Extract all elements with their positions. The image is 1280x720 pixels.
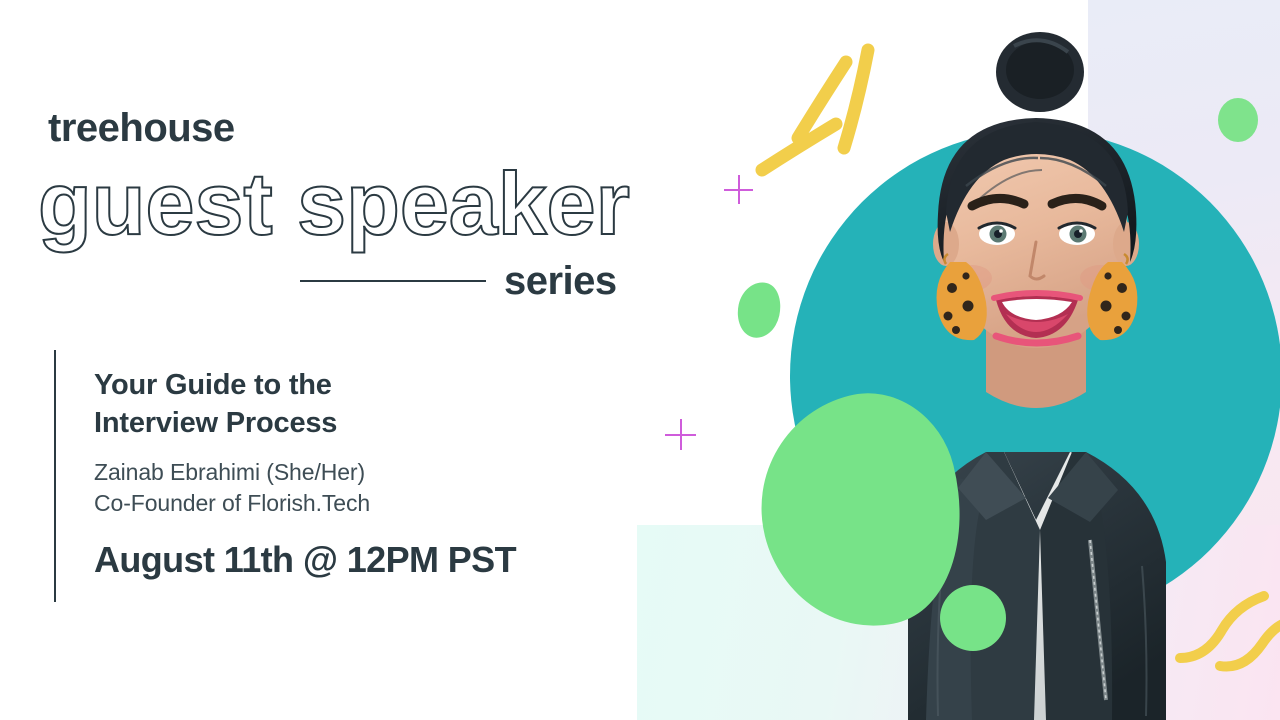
speaker-name: Zainab Ebrahimi (She/Her) xyxy=(94,457,516,489)
page-title: guest speaker xyxy=(38,160,630,248)
speaker-role: Co-Founder of Florish.Tech xyxy=(94,488,516,520)
sparkle-strokes-icon xyxy=(740,28,920,208)
plus-mark-icon xyxy=(665,419,696,450)
talk-details: Your Guide to the Interview Process Zain… xyxy=(54,350,516,602)
green-dot-bottom xyxy=(940,585,1006,651)
brand-name: treehouse xyxy=(48,108,235,148)
series-divider xyxy=(300,280,486,282)
event-datetime: August 11th @ 12PM PST xyxy=(94,540,516,580)
sparkle-strokes-icon xyxy=(1170,578,1280,688)
series-label: series xyxy=(504,261,617,301)
series-row: series xyxy=(300,258,630,304)
green-blob-small xyxy=(733,278,786,342)
promo-slide: treehouse guest speaker series Your Guid… xyxy=(0,0,1280,720)
talk-title: Your Guide to the Interview Process xyxy=(94,366,516,443)
